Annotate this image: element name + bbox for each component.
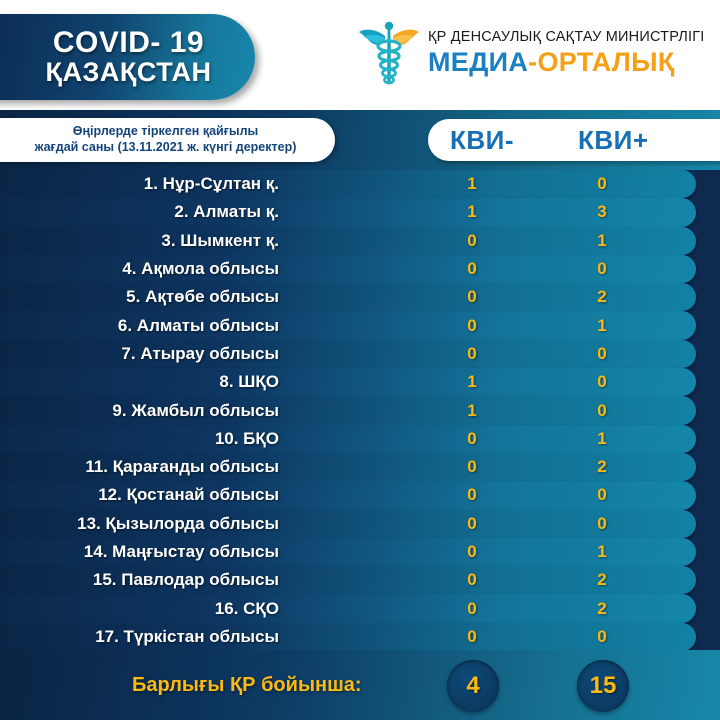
table-row: 15. Павлодар облысы02	[0, 566, 720, 594]
region-label: 14. Маңғыстау облысы	[84, 538, 279, 566]
table-row: 9. Жамбыл облысы10	[0, 396, 720, 424]
cell-kvi-positive: 1	[582, 311, 622, 339]
cell-kvi-negative: 0	[452, 566, 492, 594]
cell-kvi-negative: 0	[452, 538, 492, 566]
total-kvi-negative: 4	[447, 660, 499, 712]
table-row: 16. СҚО02	[0, 594, 720, 622]
cell-kvi-positive: 0	[582, 623, 622, 651]
table-row: 12. Қостанай облысы00	[0, 481, 720, 509]
ministry-logo: ҚР ДЕНСАУЛЫҚ САҚТАУ МИНИСТРЛІГІ МЕДИА-ОР…	[358, 16, 705, 90]
table-row: 2. Алматы қ.13	[0, 198, 720, 226]
cell-kvi-negative: 0	[452, 623, 492, 651]
cell-kvi-negative: 0	[452, 255, 492, 283]
subtitle-line-1: Өңірлерде тіркелген қайғылы	[73, 124, 258, 140]
region-label: 2. Алматы қ.	[174, 198, 279, 226]
region-label: 6. Алматы облысы	[118, 311, 279, 339]
cell-kvi-negative: 0	[452, 311, 492, 339]
table-row: 10. БҚО01	[0, 425, 720, 453]
column-header-kvi-positive: КВИ+	[578, 125, 649, 156]
media-center-name: МЕДИА-ОРТАЛЫҚ	[428, 49, 705, 76]
cell-kvi-negative: 0	[452, 594, 492, 622]
table-row: 7. Атырау облысы00	[0, 340, 720, 368]
cell-kvi-positive: 0	[582, 255, 622, 283]
cell-kvi-positive: 0	[582, 396, 622, 424]
cell-kvi-negative: 0	[452, 340, 492, 368]
cell-kvi-negative: 0	[452, 481, 492, 509]
cell-kvi-positive: 0	[582, 510, 622, 538]
cell-kvi-negative: 1	[452, 198, 492, 226]
region-label: 10. БҚО	[215, 425, 279, 453]
cell-kvi-positive: 1	[582, 538, 622, 566]
region-label: 7. Атырау облысы	[121, 340, 279, 368]
cell-kvi-positive: 0	[582, 481, 622, 509]
region-label: 4. Ақмола облысы	[122, 255, 279, 283]
cell-kvi-negative: 0	[452, 283, 492, 311]
cell-kvi-positive: 2	[582, 566, 622, 594]
cell-kvi-negative: 0	[452, 227, 492, 255]
totals-footer: Барлығы ҚР бойынша: 4 15	[0, 650, 720, 720]
ministry-name: ҚР ДЕНСАУЛЫҚ САҚТАУ МИНИСТРЛІГІ	[428, 30, 705, 45]
region-label: 8. ШҚО	[219, 368, 279, 396]
cell-kvi-positive: 1	[582, 425, 622, 453]
covid-banner-subtitle: ҚАЗАҚСТАН	[46, 58, 212, 86]
cell-kvi-positive: 2	[582, 283, 622, 311]
region-label: 9. Жамбыл облысы	[112, 396, 279, 424]
covid-banner: COVID- 19 ҚАЗАҚСТАН	[0, 14, 255, 100]
caduceus-icon	[358, 16, 420, 90]
region-label: 3. Шымкент қ.	[161, 227, 279, 255]
table-row: 6. Алматы облысы01	[0, 311, 720, 339]
cell-kvi-positive: 2	[582, 594, 622, 622]
column-header-pill: КВИ- КВИ+	[428, 119, 720, 161]
cell-kvi-negative: 1	[452, 396, 492, 424]
region-label: 16. СҚО	[215, 594, 279, 622]
cell-kvi-positive: 2	[582, 453, 622, 481]
subtitle-panel: Өңірлерде тіркелген қайғылы жағдай саны …	[0, 118, 335, 162]
cell-kvi-negative: 0	[452, 510, 492, 538]
subtitle-line-2: жағдай саны (13.11.2021 ж. күнгі деректе…	[35, 140, 297, 156]
table-row: 14. Маңғыстау облысы01	[0, 538, 720, 566]
region-label: 5. Ақтөбе облысы	[126, 283, 279, 311]
table-row: 8. ШҚО10	[0, 368, 720, 396]
cell-kvi-positive: 0	[582, 170, 622, 198]
region-label: 13. Қызылорда облысы	[77, 510, 279, 538]
table-row: 1. Нұр-Сұлтан қ.10	[0, 170, 720, 198]
subtitle-header-row: Өңірлерде тіркелген қайғылы жағдай саны …	[0, 110, 720, 170]
cell-kvi-negative: 0	[452, 425, 492, 453]
cell-kvi-positive: 0	[582, 340, 622, 368]
table-row: 17. Түркістан облысы00	[0, 623, 720, 651]
table-row: 11. Қарағанды облысы02	[0, 453, 720, 481]
table-row: 3. Шымкент қ.01	[0, 227, 720, 255]
table-row: 5. Ақтөбе облысы02	[0, 283, 720, 311]
infographic-page: COVID- 19 ҚАЗАҚСТАН	[0, 0, 720, 720]
cell-kvi-positive: 3	[582, 198, 622, 226]
cell-kvi-positive: 1	[582, 227, 622, 255]
region-label: 12. Қостанай облысы	[98, 481, 279, 509]
column-header-kvi-negative: КВИ-	[450, 125, 514, 156]
region-label: 17. Түркістан облысы	[95, 623, 279, 651]
region-label: 1. Нұр-Сұлтан қ.	[144, 170, 279, 198]
region-label: 11. Қарағанды облысы	[85, 453, 279, 481]
cell-kvi-negative: 1	[452, 368, 492, 396]
region-label: 15. Павлодар облысы	[93, 566, 279, 594]
total-kvi-positive: 15	[577, 660, 629, 712]
covid-banner-title: COVID- 19	[53, 28, 204, 59]
regions-table: 1. Нұр-Сұлтан қ.102. Алматы қ.133. Шымке…	[0, 170, 720, 650]
ministry-logo-text: ҚР ДЕНСАУЛЫҚ САҚТАУ МИНИСТРЛІГІ МЕДИА-ОР…	[428, 30, 705, 76]
totals-label: Барлығы ҚР бойынша:	[132, 650, 362, 720]
cell-kvi-negative: 1	[452, 170, 492, 198]
table-row: 13. Қызылорда облысы00	[0, 510, 720, 538]
table-row: 4. Ақмола облысы00	[0, 255, 720, 283]
header-band: COVID- 19 ҚАЗАҚСТАН	[0, 0, 720, 110]
cell-kvi-negative: 0	[452, 453, 492, 481]
cell-kvi-positive: 0	[582, 368, 622, 396]
logo-center-word: ОРТАЛЫҚ	[537, 47, 674, 77]
logo-media-word: МЕДИА	[428, 47, 528, 77]
